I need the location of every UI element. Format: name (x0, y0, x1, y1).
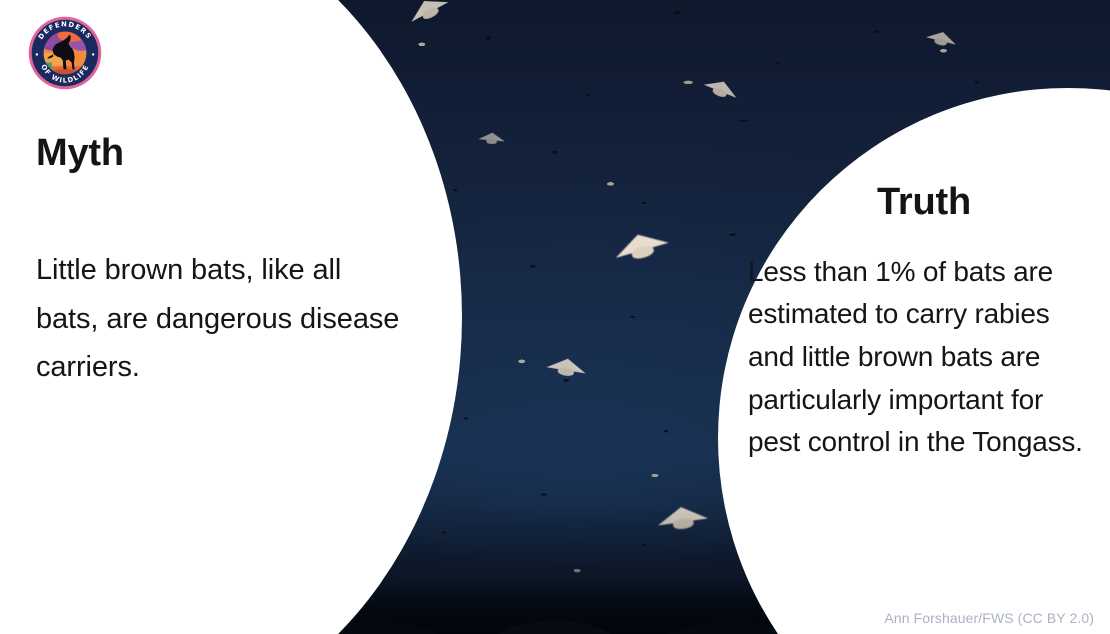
defenders-of-wildlife-logo: DEFENDERS OF WILDLIFE (28, 16, 102, 90)
truth-body-text: Less than 1% of bats are estimated to ca… (748, 251, 1100, 464)
truth-heading: Truth (748, 183, 1100, 223)
photo-credit: Ann Forshauer/FWS (CC BY 2.0) (884, 610, 1094, 626)
myth-heading: Myth (36, 134, 406, 174)
myth-body-text: Little brown bats, like all bats, are da… (36, 246, 406, 392)
truth-block: Truth Less than 1% of bats are estimated… (748, 183, 1100, 464)
myth-vs-truth-infographic: DEFENDERS OF WILDLIFE Myth Little brown … (0, 0, 1110, 634)
myth-block: Myth Little brown bats, like all bats, a… (36, 134, 406, 392)
